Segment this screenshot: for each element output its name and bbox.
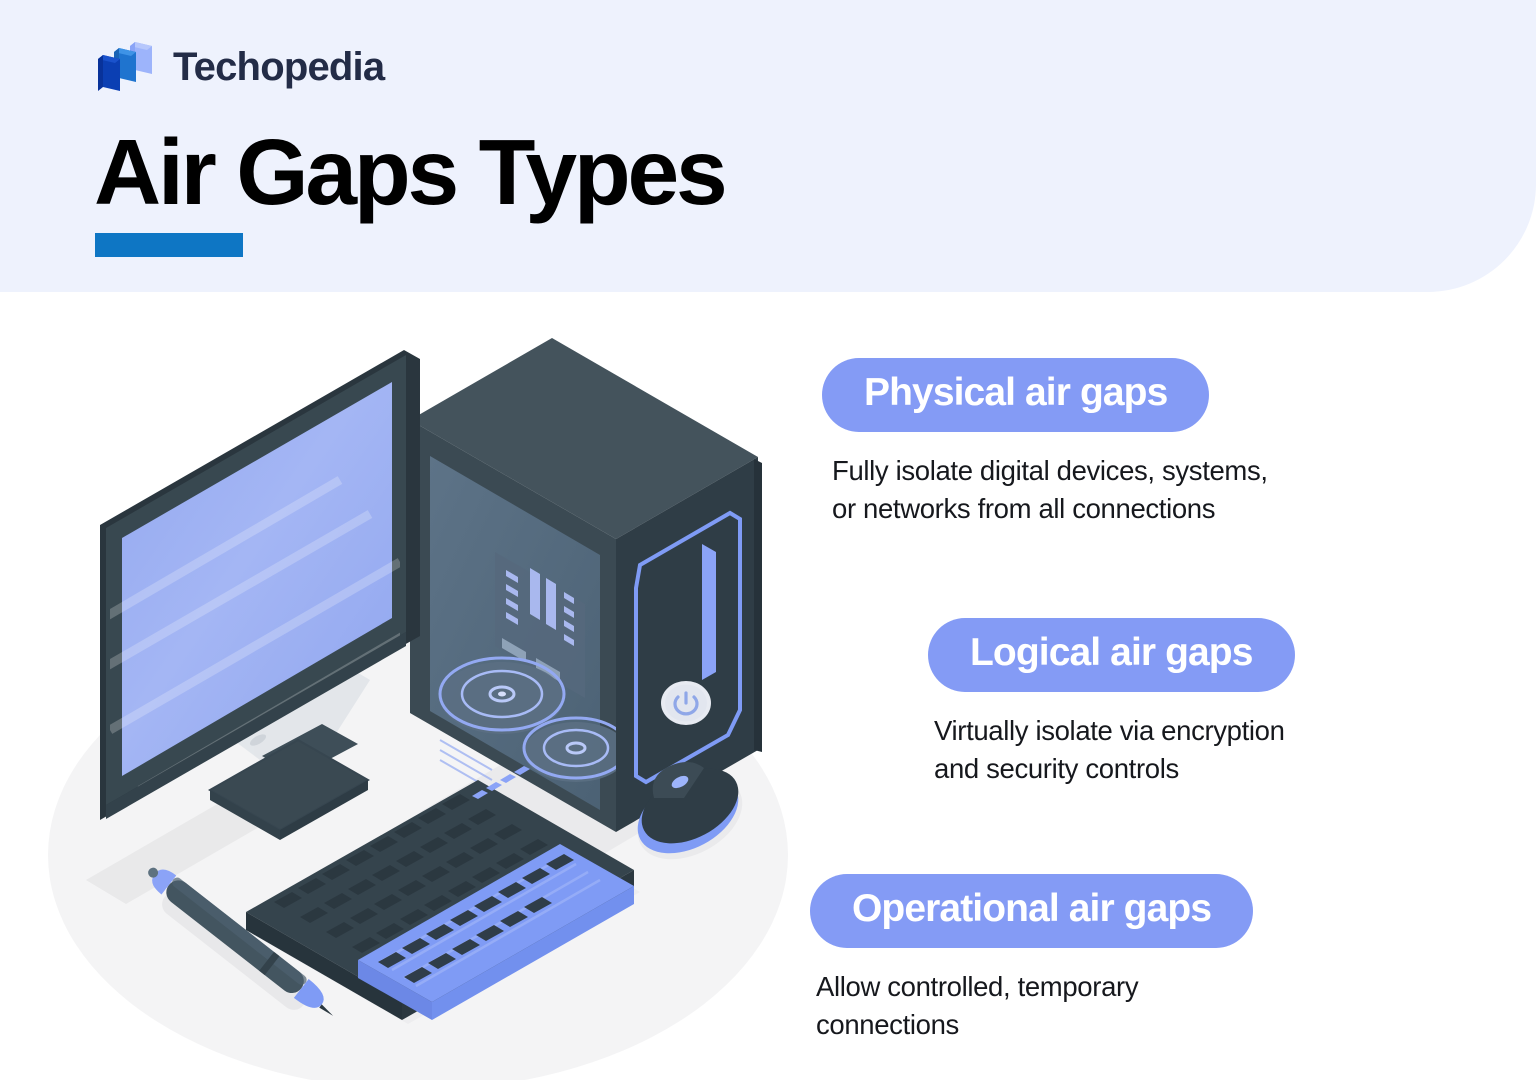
page-title: Air Gaps Types <box>94 124 725 222</box>
type-label-physical: Physical air gaps <box>822 358 1209 432</box>
type-description-operational: Allow controlled, temporary connections <box>816 968 1450 1044</box>
front-light-slot <box>702 544 716 680</box>
power-button <box>661 681 711 725</box>
title-accent-bar <box>95 233 243 257</box>
type-label-operational: Operational air gaps <box>810 874 1253 948</box>
brand-name: Techopedia <box>173 47 384 87</box>
air-gap-type-operational: Operational air gaps Allow controlled, t… <box>810 874 1450 1044</box>
header-band: Techopedia Air Gaps Types <box>0 0 1536 292</box>
type-description-logical: Virtually isolate via encryption and sec… <box>934 712 1536 788</box>
techopedia-layers-logo-icon <box>95 38 157 96</box>
cooling-fan-lower <box>524 718 628 782</box>
type-description-physical: Fully isolate digital devices, systems, … <box>832 452 1462 528</box>
air-gap-type-logical: Logical air gaps Virtually isolate via e… <box>928 618 1536 788</box>
type-label-logical: Logical air gaps <box>928 618 1295 692</box>
brand-lockup: Techopedia <box>95 38 384 96</box>
air-gap-type-physical: Physical air gaps Fully isolate digital … <box>822 358 1462 528</box>
isometric-computer-illustration <box>40 320 830 1080</box>
